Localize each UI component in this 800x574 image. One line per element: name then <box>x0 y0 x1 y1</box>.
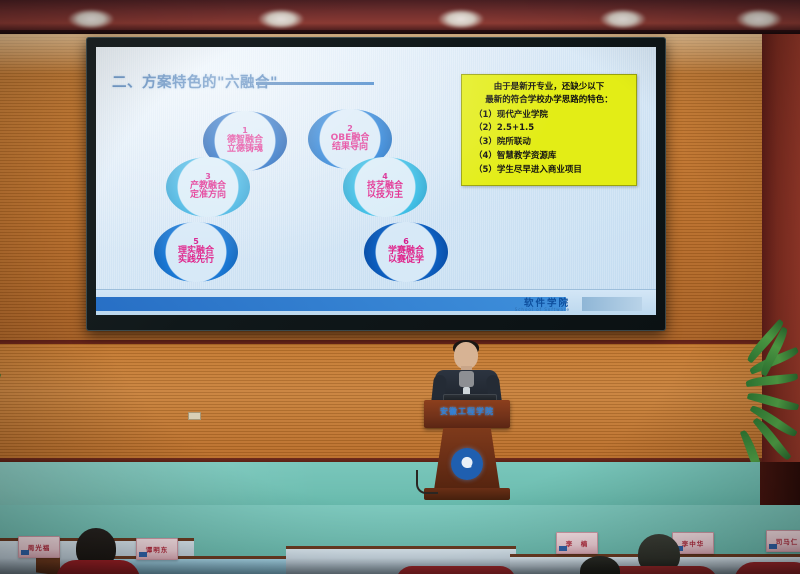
nameplate-text: 谭明东 <box>146 544 169 554</box>
ceiling-band <box>0 0 800 33</box>
callout-head-line-1: 由于是新开专业，还缺少以下 <box>468 81 630 94</box>
nameplate-text: 李中华 <box>682 538 705 548</box>
nameplate-badge <box>769 544 777 549</box>
fusion-circle-3: 3 产教融合 定准方向 <box>166 157 250 217</box>
presenter-head <box>454 342 478 369</box>
podium-engraved-name: 安徽工程学院 <box>424 406 510 417</box>
ceiling-light <box>68 9 114 29</box>
lecture-hall-photo: 二、方案特色的"六融合" 1 德智融合 立德铸魂 2 OBE融合 结果导向 3 … <box>0 0 800 574</box>
fusion-circle-6: 6 学赛融合 以赛促学 <box>364 222 448 282</box>
fusion-circle-5: 5 理实融合 实践先行 <box>154 222 238 282</box>
power-cable <box>416 470 438 494</box>
audience-shoulders <box>396 566 516 574</box>
school-logo-en: School of Software <box>515 308 570 312</box>
nameplate-badge <box>21 550 29 555</box>
circle-line-2: 以赛促学 <box>388 256 424 266</box>
school-logo: 软件学院 School of Software <box>515 299 570 313</box>
circle-line-2: 定准方向 <box>190 191 226 201</box>
nameplate-text: 司马仁 <box>776 536 799 546</box>
nameplate: 谭明东 <box>136 538 178 560</box>
callout-item: （5）学生尽早进入商业项目 <box>468 164 630 178</box>
presenter-shirt <box>459 371 474 387</box>
presentation-slide: 二、方案特色的"六融合" 1 德智融合 立德铸魂 2 OBE融合 结果导向 3 … <box>96 47 656 315</box>
ceiling-light <box>736 9 782 29</box>
title-underline-rule <box>256 82 374 85</box>
nameplate: 李 楠 <box>556 532 598 554</box>
slide-title: 二、方案特色的"六融合" <box>112 71 278 92</box>
university-emblem: G <box>451 448 483 480</box>
audience-shoulders <box>56 560 140 574</box>
callout-box: 由于是新开专业，还缺少以下 最新的符合学校办学思路的特色： （1）现代产业学院 … <box>461 74 637 186</box>
callout-item: （1）现代产业学院 <box>468 109 630 123</box>
nameplate-text: 李 楠 <box>566 538 589 548</box>
circle-line-2: 结果导向 <box>332 143 368 153</box>
nameplate-badge <box>139 552 147 557</box>
callout-item: （2）2.5+1.5 <box>468 122 630 136</box>
nameplate: 司马仁 <box>766 530 800 552</box>
slide-footer: 软件学院 School of Software <box>96 289 656 315</box>
callout-list: （1）现代产业学院 （2）2.5+1.5 （3）院所联动 （4）智慧教学资源库 … <box>468 109 630 178</box>
nameplate: 周光福 <box>18 536 60 558</box>
ceiling-light <box>258 9 304 29</box>
nameplate-text: 周光福 <box>28 542 51 552</box>
ceiling-light <box>600 9 646 29</box>
callout-item: （3）院所联动 <box>468 136 630 150</box>
callout-head-line-2: 最新的符合学校办学思路的特色： <box>468 94 630 107</box>
circle-line-2: 立德铸魂 <box>227 145 263 155</box>
potted-palm-left <box>0 358 42 428</box>
circle-line-2: 以技为主 <box>367 191 403 201</box>
audience-shoulders <box>734 562 800 574</box>
fusion-circle-4: 4 技艺融合 以技为主 <box>343 157 427 217</box>
callout-item: （4）智慧教学资源库 <box>468 150 630 164</box>
circle-line-2: 实践先行 <box>178 256 214 266</box>
stage-right-shadow <box>760 462 800 508</box>
ceiling-light <box>438 9 484 29</box>
potted-palm-right <box>742 352 800 472</box>
footer-bar-right <box>582 297 642 311</box>
wall-socket <box>188 412 201 420</box>
footer-bar-left <box>96 297 566 311</box>
emblem-glyph: G <box>462 458 473 471</box>
wall-lower-panel <box>0 344 800 462</box>
nameplate-badge <box>559 546 567 551</box>
